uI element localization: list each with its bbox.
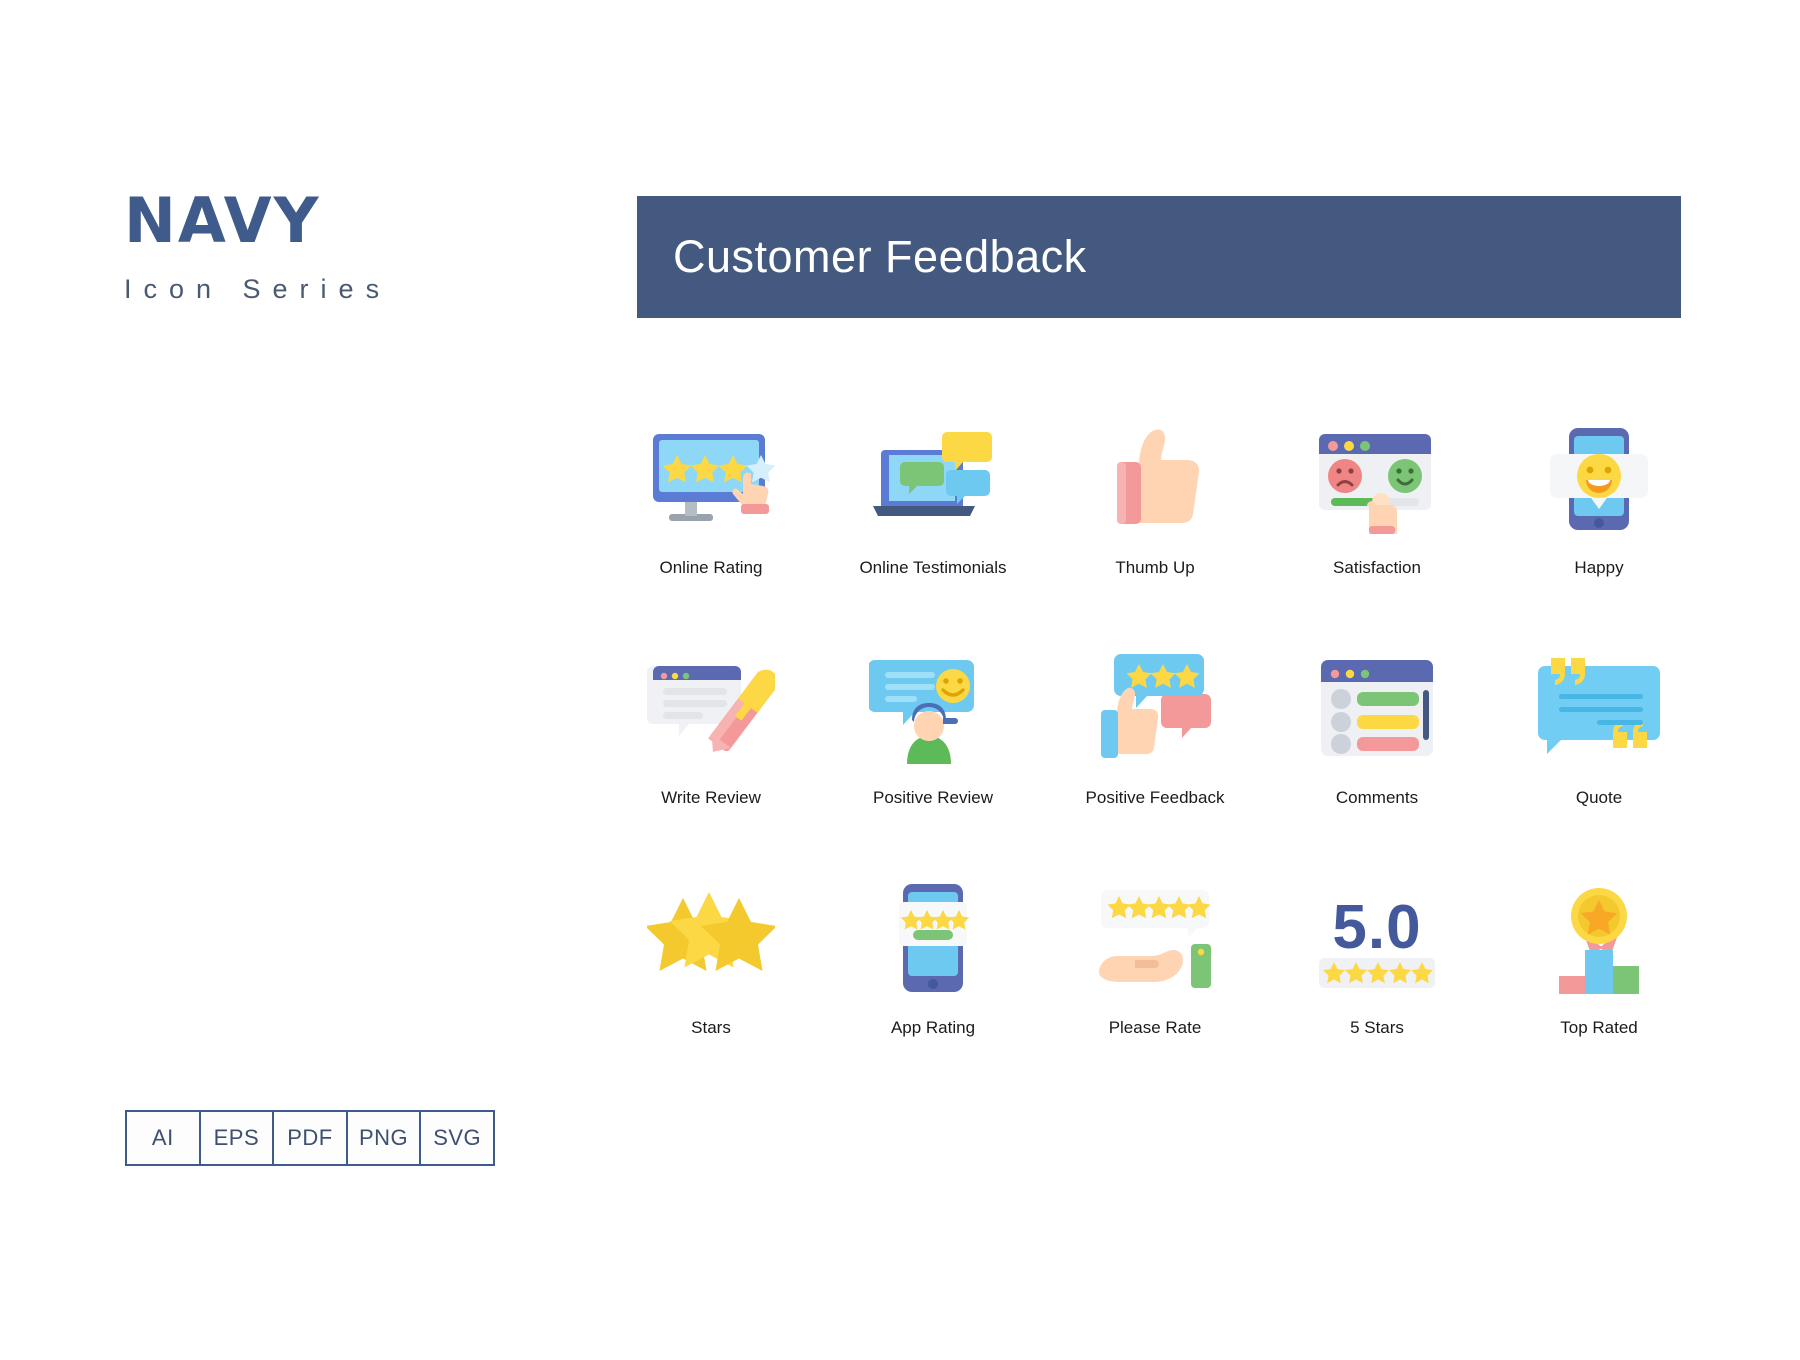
icon-label: 5 Stars (1350, 1018, 1404, 1038)
please-rate-icon (1085, 875, 1225, 1000)
icon-cell-comments[interactable]: Comments (1266, 645, 1488, 875)
icon-cell-quote[interactable]: Quote (1488, 645, 1710, 875)
icon-label: Happy (1574, 558, 1623, 578)
stars-icon (641, 875, 781, 1000)
quote-icon (1529, 645, 1669, 770)
app-rating-icon (863, 875, 1003, 1000)
icon-label: Online Rating (659, 558, 762, 578)
category-banner: Customer Feedback (637, 196, 1681, 318)
format-button-group: AI EPS PDF PNG SVG (125, 1110, 495, 1166)
icon-grid: Online Rating Online Testimonials (600, 415, 1710, 1105)
brand-subtitle: Icon Series (124, 274, 504, 305)
icon-cell-please-rate[interactable]: Please Rate (1044, 875, 1266, 1105)
icon-cell-happy[interactable]: Happy (1488, 415, 1710, 645)
icon-label: Satisfaction (1333, 558, 1421, 578)
icon-label: Positive Review (873, 788, 993, 808)
satisfaction-icon (1307, 415, 1447, 540)
happy-icon (1529, 415, 1669, 540)
icon-cell-top-rated[interactable]: Top Rated (1488, 875, 1710, 1105)
icon-label: Top Rated (1560, 1018, 1638, 1038)
icon-label: Positive Feedback (1086, 788, 1225, 808)
comments-icon (1307, 645, 1447, 770)
icon-label: Online Testimonials (859, 558, 1006, 578)
icon-label: Stars (691, 1018, 731, 1038)
top-rated-icon (1529, 875, 1669, 1000)
five-stars-icon: 5.0 (1307, 875, 1447, 1000)
format-button-png[interactable]: PNG (348, 1112, 422, 1164)
icon-label: Write Review (661, 788, 761, 808)
positive-feedback-icon (1085, 645, 1225, 770)
thumb-up-icon (1085, 415, 1225, 540)
icon-cell-positive-feedback[interactable]: Positive Feedback (1044, 645, 1266, 875)
write-review-icon (641, 645, 781, 770)
brand-block: NAVY Icon Series (124, 190, 504, 305)
format-button-ai[interactable]: AI (127, 1112, 201, 1164)
format-button-svg[interactable]: SVG (421, 1112, 493, 1164)
category-title: Customer Feedback (673, 231, 1087, 283)
icon-cell-positive-review[interactable]: Positive Review (822, 645, 1044, 875)
format-button-eps[interactable]: EPS (201, 1112, 275, 1164)
icon-cell-stars[interactable]: Stars (600, 875, 822, 1105)
positive-review-icon (863, 645, 1003, 770)
icon-cell-online-rating[interactable]: Online Rating (600, 415, 822, 645)
icon-label: App Rating (891, 1018, 975, 1038)
icon-cell-thumb-up[interactable]: Thumb Up (1044, 415, 1266, 645)
icon-label: Thumb Up (1115, 558, 1194, 578)
online-rating-icon (641, 415, 781, 540)
icon-cell-app-rating[interactable]: App Rating (822, 875, 1044, 1105)
format-button-pdf[interactable]: PDF (274, 1112, 348, 1164)
icon-cell-five-stars[interactable]: 5.0 5 Stars (1266, 875, 1488, 1105)
brand-title: NAVY (124, 190, 504, 252)
rating-score: 5.0 (1332, 893, 1421, 962)
online-testimonials-icon (863, 415, 1003, 540)
icon-label: Quote (1576, 788, 1622, 808)
icon-label: Please Rate (1109, 1018, 1202, 1038)
icon-cell-write-review[interactable]: Write Review (600, 645, 822, 875)
icon-label: Comments (1336, 788, 1418, 808)
icon-cell-satisfaction[interactable]: Satisfaction (1266, 415, 1488, 645)
icon-cell-online-testimonials[interactable]: Online Testimonials (822, 415, 1044, 645)
